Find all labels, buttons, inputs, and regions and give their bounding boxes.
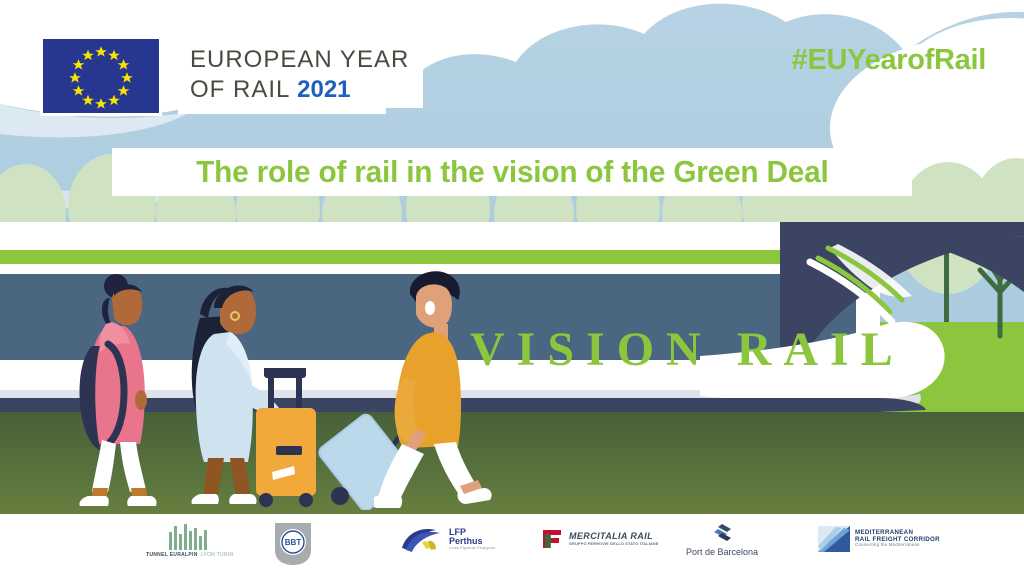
campaign-year: 2021 [297,76,350,103]
traveller-orange-jumper [374,268,504,508]
logo-mediterranean-tertiary: Connecting the Mediterranean [855,543,940,548]
suitcase-yellow [248,368,324,510]
logo-lfp-tertiary: Línea Figueras Perpignan [449,547,495,551]
traveller-pink-coat [74,268,174,508]
lfp-arches-icon [400,524,444,554]
page-title: The role of rail in the vision of the Gr… [196,154,828,190]
partner-logos-bar: TUNNEL EURALPIN LYON TURIN BBT LFP [0,514,1024,576]
logo-tunnel-euralpin-primary: TUNNEL EURALPIN [146,552,198,558]
campaign-hashtag: #EUYearofRail [792,44,986,77]
logo-mercitalia-secondary: GRUPPO FERROVIE DELLO STATO ITALIANE [569,542,659,546]
title-banner: The role of rail in the vision of the Gr… [112,148,912,196]
train-wordmark: VISION RAIL [470,326,905,374]
eu-flag-field [43,39,159,113]
mercitalia-text: MERCITALIA RAIL GRUPPO FERROVIE DELLO ST… [569,532,659,545]
logo-tunnel-euralpin-secondary: LYON TURIN [201,552,234,558]
telt-mountains-icon [155,522,225,550]
mediterranean-text: MEDITERRANEAN RAIL FREIGHT CORRIDOR Conn… [855,530,940,548]
poster-root: VISION RAIL [0,0,1024,576]
port-barcelona-waves-icon [709,522,735,544]
eu-stars-icon [43,39,159,113]
lfp-perthus-text: LFP Perthus Línea Figueras Perpignan [449,528,495,551]
logo-port-de-barcelona[interactable]: Port de Barcelona [686,522,758,557]
campaign-label-line2-prefix: OF RAIL [190,76,297,103]
campaign-label-line2: OF RAIL 2021 [190,76,409,104]
fs-italiane-icon [540,528,564,550]
logo-port-barcelona-primary: Port de Barcelona [686,547,758,557]
logo-mercitalia-rail[interactable]: MERCITALIA RAIL GRUPPO FERROVIE DELLO ST… [540,528,659,550]
logo-mediterranean-rail-freight-corridor[interactable]: MEDITERRANEAN RAIL FREIGHT CORRIDOR Conn… [818,526,940,552]
campaign-label: EUROPEAN YEAR OF RAIL 2021 [178,38,423,108]
logo-lfp-perthus[interactable]: LFP Perthus Línea Figueras Perpignan [400,524,495,554]
campaign-label-line1: EUROPEAN YEAR [190,46,409,74]
logo-tunnel-euralpin-lyon-turin[interactable]: TUNNEL EURALPIN LYON TURIN [146,522,233,558]
eu-flag [40,36,162,116]
logo-bbt-primary: BBT [285,538,302,547]
logo-bbt-brenner-base-tunnel[interactable]: BBT [272,520,314,568]
logo-mercitalia-primary: MERCITALIA RAIL [569,532,659,541]
bbt-shield-icon: BBT [272,520,314,568]
mediterranean-corridor-icon [818,526,850,552]
